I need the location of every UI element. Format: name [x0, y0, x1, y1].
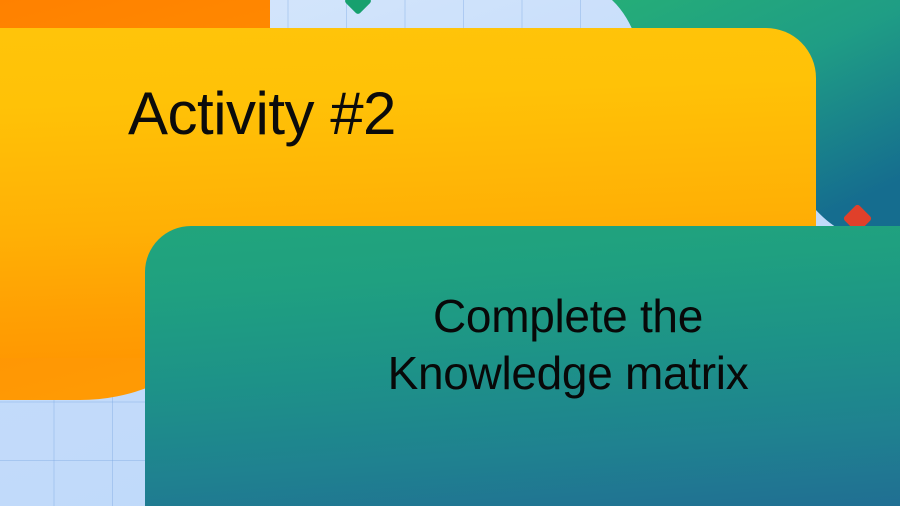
task-card[interactable]: Complete the Knowledge matrix	[145, 226, 900, 506]
task-title-line-1: Complete the	[145, 288, 900, 345]
task-title-line-2: Knowledge matrix	[145, 345, 900, 402]
task-title: Complete the Knowledge matrix	[145, 288, 900, 401]
slide-canvas: Activity #2 Complete the Knowledge matri…	[0, 0, 900, 506]
activity-title: Activity #2	[128, 80, 396, 147]
